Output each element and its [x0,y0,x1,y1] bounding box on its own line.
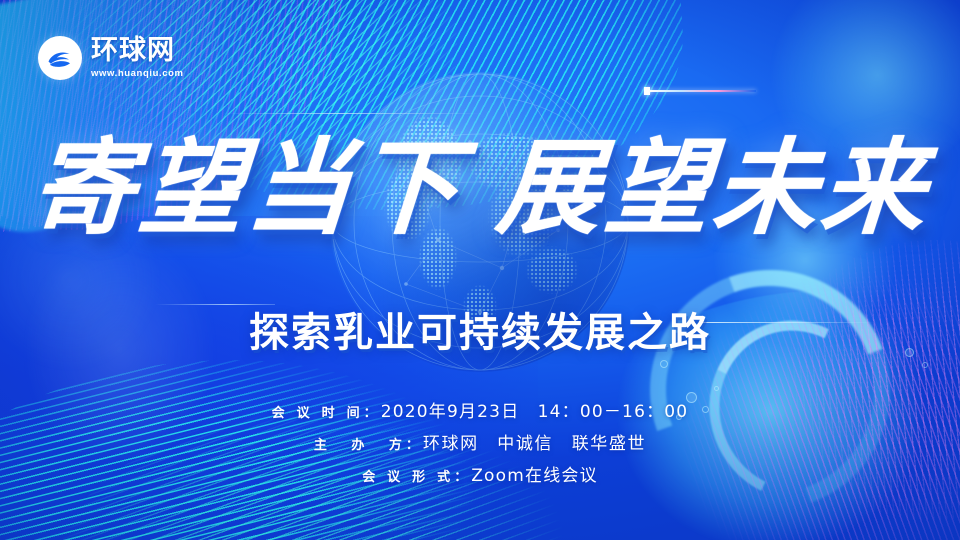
event-detail-row-time: 会议时间 ： 2020年9月23日 14：00－16：00 [272,397,689,422]
huanqiu-logo[interactable]: 环球网 www.huanqiu.com [38,36,184,80]
event-detail-colon: ： [406,434,419,453]
accent-line-upper-left [222,113,482,114]
event-details: 会议时间 ： 2020年9月23日 14：00－16：00 主办方 ： 环球网 … [0,397,960,486]
event-detail-value: Zoom在线会议 [471,461,598,486]
event-detail-colon: ： [454,466,467,485]
event-detail-label: 主办方 [314,434,406,453]
event-detail-value: 2020年9月23日 14：00－16：00 [381,397,689,422]
event-detail-colon: ： [364,402,377,421]
logo-text-block: 环球网 www.huanqiu.com [91,37,184,79]
event-detail-label: 会议形式 [362,466,454,485]
headline-part-2: 展望未来 [493,127,934,249]
huanqiu-swoosh-logo-icon [38,36,82,80]
page-subtitle: 探索乳业可持续发展之路 [0,300,960,358]
event-detail-row-format: 会议形式 ： Zoom在线会议 [362,461,598,486]
event-detail-row-organizer: 主办方 ： 环球网 中诚信 联华盛世 [314,429,646,454]
conference-banner: 环球网 www.huanqiu.com 寄望当下展望未来 探索乳业可持续发展之路… [0,0,960,540]
headline-part-1: 寄望当下 [27,127,468,249]
logo-website: www.huanqiu.com [91,69,184,79]
accent-line-hero [648,90,756,92]
event-detail-value: 环球网 中诚信 联华盛世 [423,429,646,454]
logo-name: 环球网 [91,37,184,64]
page-title: 寄望当下展望未来 [0,132,960,244]
event-detail-label: 会议时间 [272,402,364,421]
